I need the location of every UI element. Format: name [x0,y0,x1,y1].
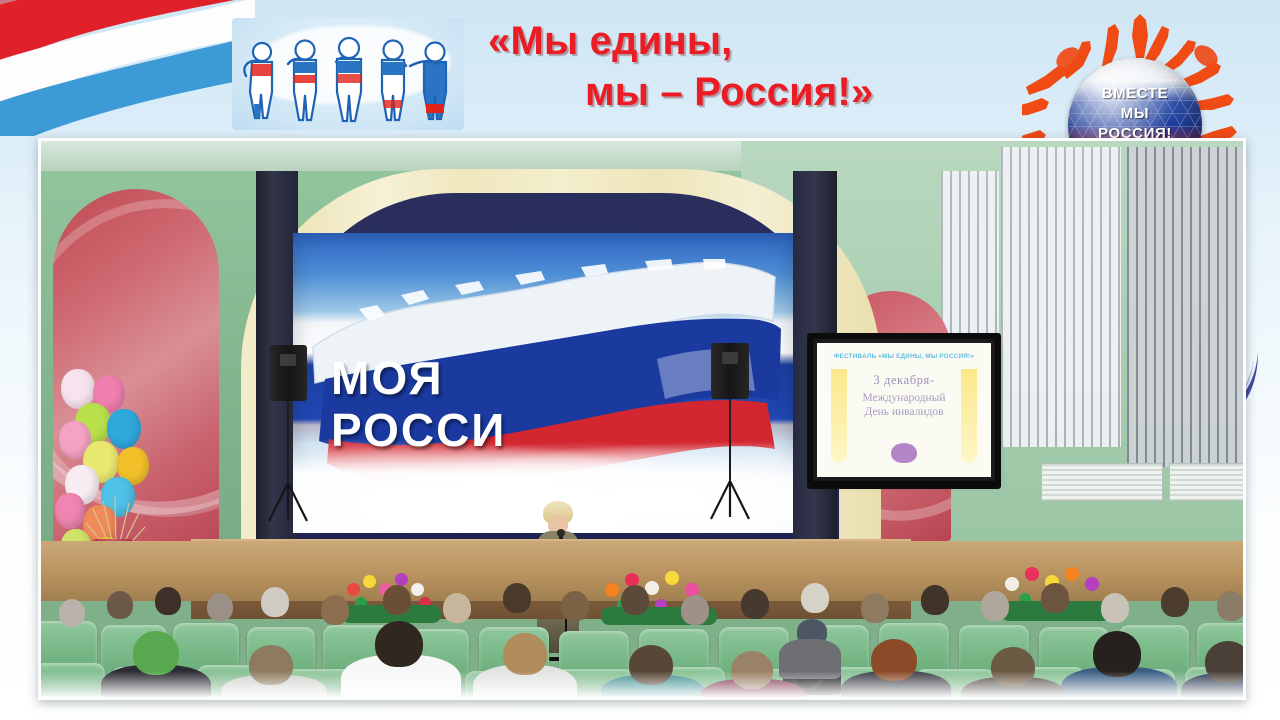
festival-hall-photograph: МОЯ РОССИ [38,138,1246,700]
wall-vent-1 [1041,463,1163,501]
audience-head [561,591,589,621]
russian-tricolor-ribbon [0,0,255,136]
audience-head [741,589,769,619]
projection-screen: ФЕСТИВАЛЬ «МЫ ЕДИНЫ, МЫ РОССИЯ!» 3 декаб… [813,339,995,481]
globe-slogan: ВМЕСТЕ МЫ РОССИЯ! [1068,84,1202,143]
audience-head [59,599,85,627]
audience-head [107,591,133,619]
left-arch-mural [53,189,219,567]
screen-line-2: Международный День инвалидов [817,391,991,420]
banner-line-1: МОЯ [331,352,444,404]
audience-head [1217,591,1245,621]
audience-head [621,585,649,615]
globe-slogan-line-1: ВМЕСТЕ [1068,84,1202,104]
title-line-1: «Мы едины, [470,16,1030,67]
audience-head [1161,587,1189,617]
screen-line-1: 3 декабря- [817,373,991,388]
screen-header-text: ФЕСТИВАЛЬ «МЫ ЕДИНЫ, МЫ РОССИЯ!» [817,353,991,360]
page-title: «Мы едины, мы – Россия!» [470,16,1030,118]
screen-logo-icon [891,443,917,463]
audience-head [383,585,411,615]
audience-head-scarf [133,631,179,675]
audience-head [375,621,423,667]
audience-head [921,585,949,615]
title-line-2: мы – Россия!» [470,67,1030,118]
audience-head [503,583,531,613]
audience-head [681,595,709,625]
wall-vent-2 [1169,463,1246,501]
audience-head [155,587,181,615]
loudspeaker-right [711,343,749,399]
audience-head [981,591,1009,621]
audience-head [443,593,471,623]
audience-head [321,595,349,625]
audience-head [861,593,889,623]
window-blinds-2 [1127,147,1246,467]
audience-head [503,633,547,675]
loudspeaker-left [269,345,307,401]
audience-head [801,583,829,613]
audience-head [261,587,289,617]
audience-head [1101,593,1129,623]
photo-bottom-fade [41,671,1246,697]
slide-canvas: «Мы едины, мы – Россия!» [0,0,1280,720]
audience-head [207,593,233,621]
audience-head [1041,583,1069,613]
screen-line-2b: День инвалидов [817,405,991,419]
screen-line-2a: Международный [817,391,991,405]
banner-line-2: РОССИ [331,405,793,457]
window-blinds-1 [1001,147,1121,447]
linked-people-tricolor-logo [232,18,464,130]
globe-slogan-line-2: МЫ [1068,104,1202,124]
